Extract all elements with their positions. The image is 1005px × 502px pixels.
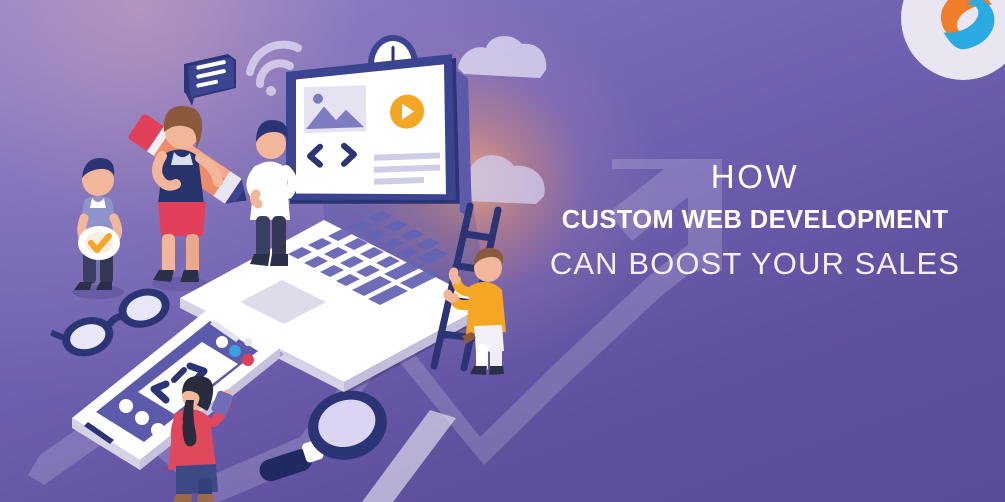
headline-line-1: HOW xyxy=(520,160,990,193)
headline-line-2: CUSTOM WEB DEVELOPMENT xyxy=(520,208,990,234)
person-checkmark xyxy=(58,140,138,300)
signity-logo[interactable] xyxy=(893,0,1005,90)
headline-block: HOW CUSTOM WEB DEVELOPMENT CAN BOOST YOU… xyxy=(520,160,990,279)
person-at-laptop xyxy=(236,108,308,268)
banner-canvas: HOW CUSTOM WEB DEVELOPMENT CAN BOOST YOU… xyxy=(0,0,1005,502)
headline-line-3: CAN BOOST YOUR SALES xyxy=(520,248,990,279)
person-on-ladder xyxy=(452,248,522,374)
person-with-phone xyxy=(152,378,238,502)
